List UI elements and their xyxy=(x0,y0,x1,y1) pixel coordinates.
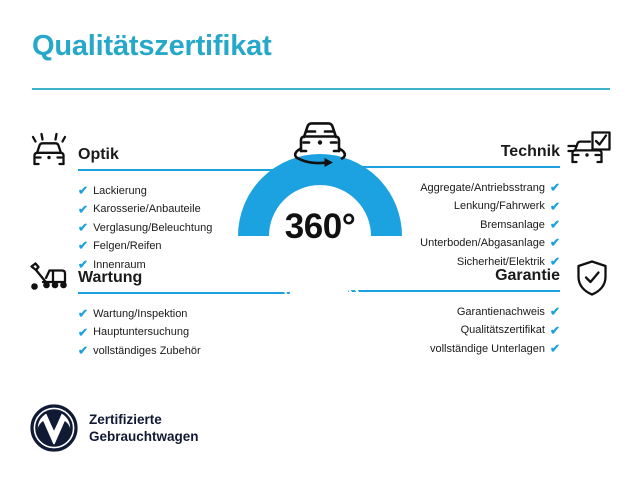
check-icon: ✔ xyxy=(78,203,88,215)
list-item-label: Garantienachweis xyxy=(457,303,545,321)
list-item: ✔ Hauptuntersuchung xyxy=(78,323,290,341)
badge-curved-label: Gebrauchtwagen-Check xyxy=(248,238,392,309)
list-item-label: Verglasung/Beleuchtung xyxy=(93,219,212,237)
vw-wordmark: Zertifizierte Gebrauchtwagen xyxy=(89,411,199,445)
list-item: vollständige Unterlagen ✔ xyxy=(348,340,560,358)
car-shine-icon xyxy=(26,131,72,171)
certificate-page: Qualitätszertifikat Optik xyxy=(0,0,640,480)
check-icon: ✔ xyxy=(78,185,88,197)
check-icon: ✔ xyxy=(550,306,560,318)
check-icon: ✔ xyxy=(550,343,560,355)
list-item-label: Aggregate/Antriebsstrang xyxy=(420,179,545,197)
shield-check-icon xyxy=(572,258,618,298)
list-item-label: vollständige Unterlagen xyxy=(430,340,545,358)
check-icon: ✔ xyxy=(550,324,560,336)
check-icon: ✔ xyxy=(78,240,88,252)
header-divider xyxy=(32,88,610,90)
list-item: Qualitätszertifikat ✔ xyxy=(348,321,560,339)
list-item-label: Lenkung/Fahrwerk xyxy=(454,197,545,215)
check-icon: ✔ xyxy=(78,308,88,320)
car-rotation-icon xyxy=(286,115,354,171)
list-item-label: Karosserie/Anbauteile xyxy=(93,200,201,218)
car-checkbox-icon xyxy=(566,130,612,170)
list-item-label: Unterboden/Abgasanlage xyxy=(420,234,545,252)
list-item-label: Wartung/Inspektion xyxy=(93,305,187,323)
check-icon: ✔ xyxy=(78,326,88,338)
badge-360-gebrauchtwagen-check: Gebrauchtwagen-Check xyxy=(232,148,408,324)
list-item: ✔ vollständiges Zubehör xyxy=(78,342,290,360)
vw-wordmark-line1: Zertifizierte xyxy=(89,411,199,428)
check-icon: ✔ xyxy=(78,345,88,357)
check-icon: ✔ xyxy=(550,182,560,194)
check-icon: ✔ xyxy=(550,200,560,212)
list-item-label: Lackierung xyxy=(93,182,147,200)
list-item-label: Bremsanlage xyxy=(480,216,545,234)
page-title: Qualitätszertifikat xyxy=(32,30,272,63)
svg-text:Gebrauchtwagen-Check: Gebrauchtwagen-Check xyxy=(248,238,392,309)
vw-wordmark-line2: Gebrauchtwagen xyxy=(89,428,199,445)
vw-logo xyxy=(30,404,78,452)
badge-degree-label: 360° xyxy=(232,207,408,247)
vw-footer: Zertifizierte Gebrauchtwagen xyxy=(30,404,199,452)
list-item-label: vollständiges Zubehör xyxy=(93,342,201,360)
list-item-label: Qualitätszertifikat xyxy=(461,321,545,339)
list-item-label: Hauptuntersuchung xyxy=(93,323,189,341)
list-item-label: Felgen/Reifen xyxy=(93,237,162,255)
wrench-car-icon xyxy=(24,260,70,300)
check-icon: ✔ xyxy=(550,237,560,249)
check-icon: ✔ xyxy=(550,219,560,231)
check-icon: ✔ xyxy=(78,222,88,234)
